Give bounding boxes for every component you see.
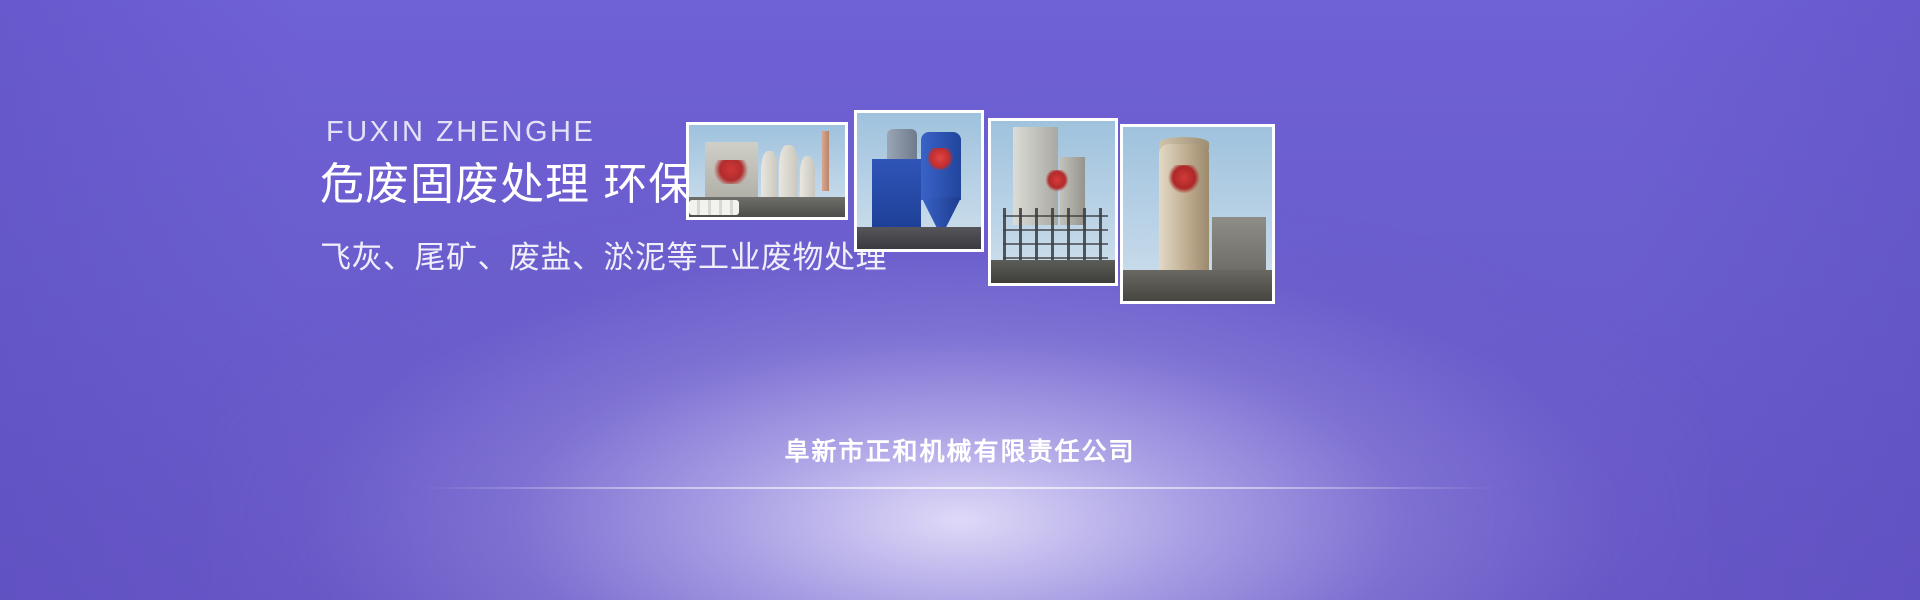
- photo-cement-plant: [686, 122, 848, 220]
- preheater-tower-a: [761, 151, 778, 199]
- preheater-tower-c: [800, 156, 816, 198]
- zhenghe-logo-icon: [1046, 170, 1068, 193]
- product-photo-strip: [686, 110, 1286, 340]
- company-name: 阜新市正和机械有限责任公司: [0, 432, 1920, 468]
- chimney-stack: [822, 131, 830, 192]
- photo-ground: [991, 260, 1115, 283]
- photo-gray-processing-tower: [988, 118, 1118, 286]
- divider-rule: [420, 487, 1500, 489]
- zhenghe-logo-icon: [711, 160, 752, 184]
- storage-silo-body: [1159, 144, 1210, 273]
- blue-filter-housing: [872, 159, 922, 230]
- preheater-tower-b: [779, 145, 798, 198]
- promo-banner: FUXIN ZHENGHE 危废固废处理 环保设备 飞灰、尾矿、废盐、淤泥等工业…: [0, 0, 1920, 600]
- photo-ground: [1123, 270, 1272, 301]
- material-bags: [689, 200, 739, 215]
- zhenghe-logo-icon: [926, 148, 953, 170]
- photo-blue-dust-collector: [854, 110, 984, 252]
- adjacent-workshop: [1212, 217, 1266, 276]
- photo-ground: [857, 227, 981, 249]
- photo-tan-storage-silo: [1120, 124, 1275, 304]
- zhenghe-logo-icon: [1168, 165, 1201, 193]
